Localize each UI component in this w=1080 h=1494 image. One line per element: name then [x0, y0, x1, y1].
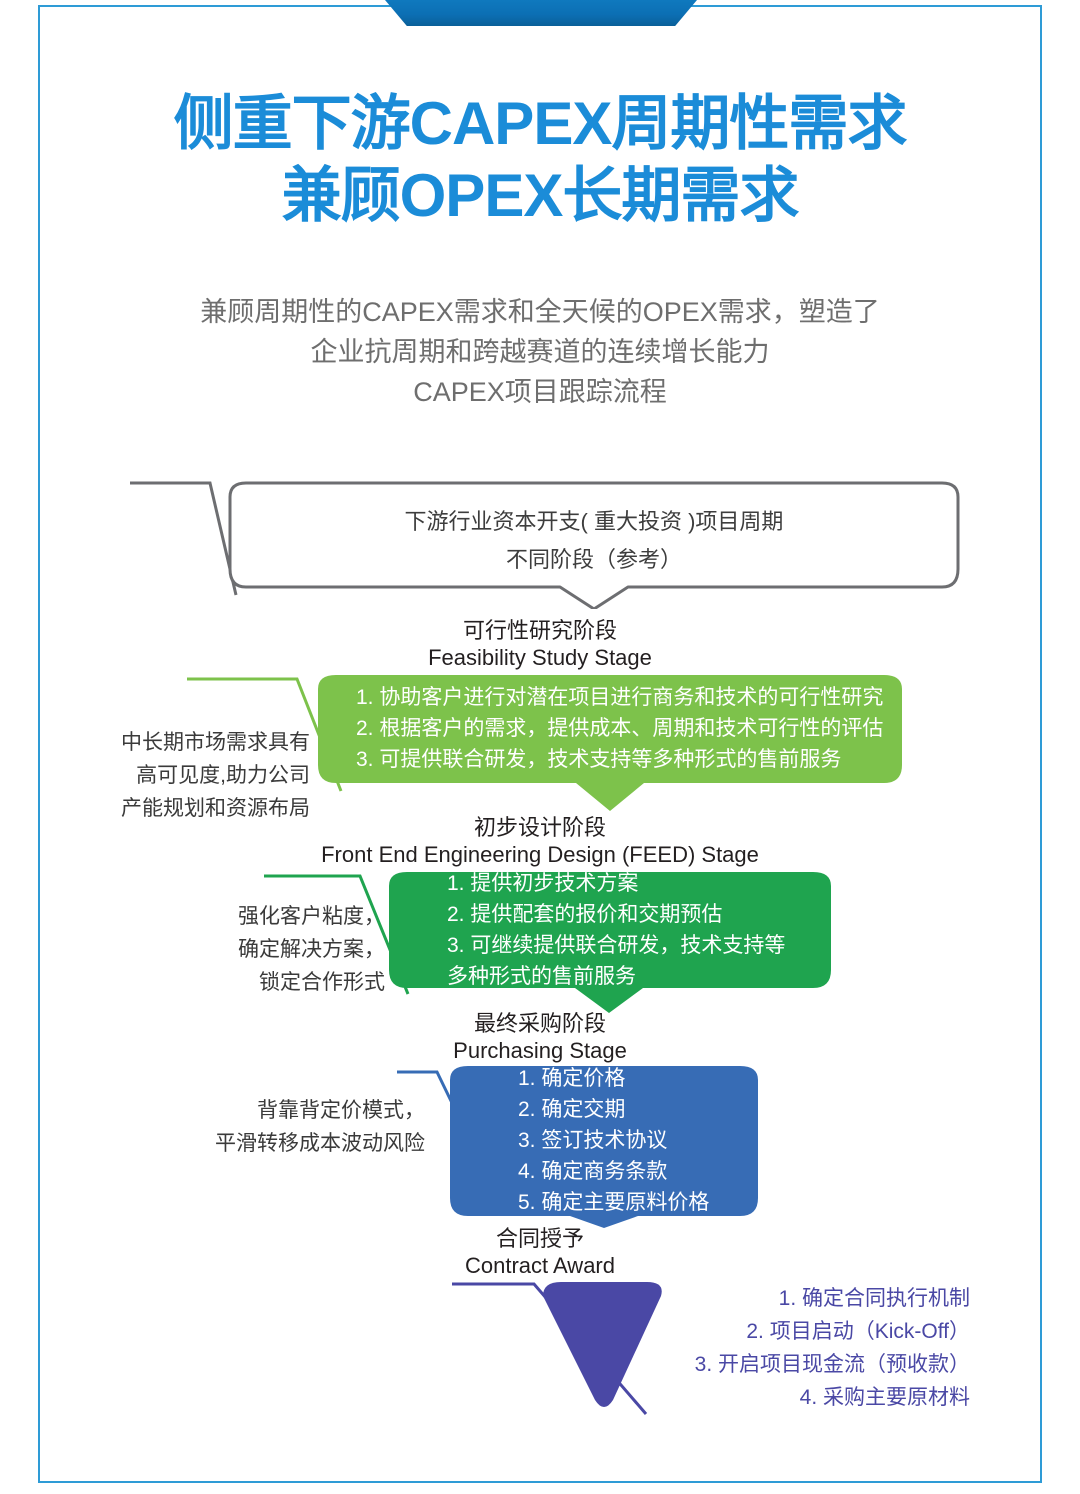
stage-caption-cn: 最终采购阶段: [0, 1010, 1080, 1037]
stage2-annotation-line-2: 确定解决方案，: [130, 933, 385, 966]
stage-caption-cn: 初步设计阶段: [0, 814, 1080, 841]
list-item: 3. 开启项目现金流（预收款）: [640, 1348, 970, 1381]
list-item: 2. 项目启动（Kick-Off）: [640, 1315, 970, 1348]
list-item: 1. 协助客户进行对潜在项目进行商务和技术的可行性研究: [356, 682, 883, 713]
stage3-annotation-line-2: 平滑转移成本波动风险: [150, 1127, 425, 1160]
title-line-2: 兼顾OPEX长期需求: [0, 160, 1080, 232]
list-item: 2. 确定交期: [518, 1094, 709, 1125]
list-item: 1. 确定价格: [518, 1063, 709, 1094]
list-item: 5. 确定主要原料价格: [518, 1187, 709, 1218]
stage-caption-cn: 合同授予: [0, 1225, 1080, 1252]
subtitle-line-1: 兼顾周期性的CAPEX需求和全天候的OPEX需求，塑造了: [0, 292, 1080, 332]
list-item: 多种形式的售前服务: [447, 961, 785, 992]
stage1-annotation-line-1: 中长期市场需求具有: [40, 726, 310, 759]
page-title: 侧重下游CAPEX周期性需求 兼顾OPEX长期需求: [0, 88, 1080, 232]
stage-caption-en: Purchasing Stage: [0, 1037, 1080, 1064]
stage3-annotation: 背靠背定价模式， 平滑转移成本波动风险: [150, 1094, 425, 1160]
list-item: 3. 签订技术协议: [518, 1125, 709, 1156]
stage-caption-feed: 初步设计阶段 Front End Engineering Design (FEE…: [0, 814, 1080, 868]
stage-block-feasibility[interactable]: 1. 协助客户进行对潜在项目进行商务和技术的可行性研究 2. 根据客户的需求，提…: [300, 673, 920, 813]
stage-caption-cn: 可行性研究阶段: [0, 617, 1080, 644]
stage3-annotation-line-1: 背靠背定价模式，: [150, 1094, 425, 1127]
list-item: 2. 根据客户的需求，提供成本、周期和技术可行性的评估: [356, 713, 883, 744]
list-item: 1. 提供初步技术方案: [447, 868, 785, 899]
stage1-annotation: 中长期市场需求具有 高可见度,助力公司 产能规划和资源布局: [40, 726, 310, 825]
list-item: 3. 可继续提供联合研发，技术支持等: [447, 930, 785, 961]
subtitle-line-3: CAPEX项目跟踪流程: [0, 372, 1080, 412]
stage-block-purchasing[interactable]: 1. 确定价格 2. 确定交期 3. 签订技术协议 4. 确定商务条款 5. 确…: [440, 1064, 770, 1229]
funnel-top-text: 下游行业资本开支( 重大投资 )项目周期 不同阶段（参考）: [216, 503, 972, 579]
list-item: 3. 可提供联合研发，技术支持等多种形式的售前服务: [356, 744, 883, 775]
stage2-annotation: 强化客户粘度， 确定解决方案， 锁定合作形式: [130, 900, 385, 999]
top-ribbon-tab: [385, 0, 697, 26]
funnel-top-box: 下游行业资本开支( 重大投资 )项目周期 不同阶段（参考）: [216, 477, 972, 595]
stage-caption-purchasing: 最终采购阶段 Purchasing Stage: [0, 1010, 1080, 1064]
stage-caption-en: Contract Award: [0, 1252, 1080, 1279]
list-item: 4. 确定商务条款: [518, 1156, 709, 1187]
stage4-item-list: 1. 确定合同执行机制 2. 项目启动（Kick-Off） 3. 开启项目现金流…: [640, 1282, 970, 1414]
page-subtitle: 兼顾周期性的CAPEX需求和全天候的OPEX需求，塑造了 企业抗周期和跨越赛道的…: [0, 292, 1080, 412]
list-item: 1. 确定合同执行机制: [640, 1282, 970, 1315]
stage1-annotation-line-2: 高可见度,助力公司: [40, 759, 310, 792]
stage2-annotation-line-3: 锁定合作形式: [130, 966, 385, 999]
stage-caption-en: Front End Engineering Design (FEED) Stag…: [0, 841, 1080, 868]
stage2-annotation-line-1: 强化客户粘度，: [130, 900, 385, 933]
list-item: 2. 提供配套的报价和交期预估: [447, 899, 785, 930]
funnel-top-line-1: 下游行业资本开支( 重大投资 )项目周期: [216, 503, 972, 541]
stage-caption-en: Feasibility Study Stage: [0, 644, 1080, 671]
stage2-item-list: 1. 提供初步技术方案 2. 提供配套的报价和交期预估 3. 可继续提供联合研发…: [447, 868, 785, 992]
list-item: 4. 采购主要原材料: [640, 1381, 970, 1414]
title-line-1: 侧重下游CAPEX周期性需求: [0, 88, 1080, 160]
stage-caption-feasibility: 可行性研究阶段 Feasibility Study Stage: [0, 617, 1080, 671]
stage1-item-list: 1. 协助客户进行对潜在项目进行商务和技术的可行性研究 2. 根据客户的需求，提…: [356, 682, 883, 775]
stage-caption-contract-award: 合同授予 Contract Award: [0, 1225, 1080, 1279]
funnel-top-line-2: 不同阶段（参考）: [216, 541, 972, 579]
stage-block-feed[interactable]: 1. 提供初步技术方案 2. 提供配套的报价和交期预估 3. 可继续提供联合研发…: [375, 870, 845, 1015]
stage3-item-list: 1. 确定价格 2. 确定交期 3. 签订技术协议 4. 确定商务条款 5. 确…: [518, 1063, 709, 1218]
subtitle-line-2: 企业抗周期和跨越赛道的连续增长能力: [0, 332, 1080, 372]
